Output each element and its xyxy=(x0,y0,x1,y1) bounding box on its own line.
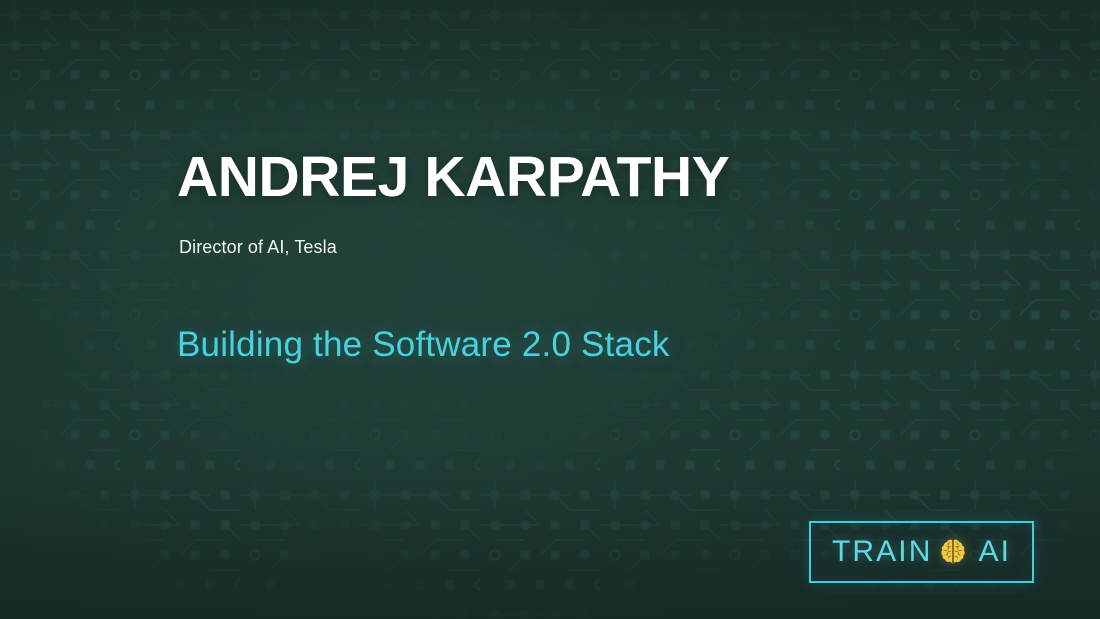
logo-word-train: TRAIN xyxy=(832,537,933,567)
speaker-role: Director of AI, Tesla xyxy=(179,237,337,258)
talk-title: Building the Software 2.0 Stack xyxy=(177,325,670,365)
speaker-name: ANDREJ KARPATHY xyxy=(177,148,729,206)
brain-icon xyxy=(938,537,968,567)
logo-word-ai: AI xyxy=(978,537,1011,567)
train-ai-logo[interactable]: TRAIN AI xyxy=(809,521,1034,583)
presentation-slide: ANDREJ KARPATHY Director of AI, Tesla Bu… xyxy=(0,0,1100,619)
